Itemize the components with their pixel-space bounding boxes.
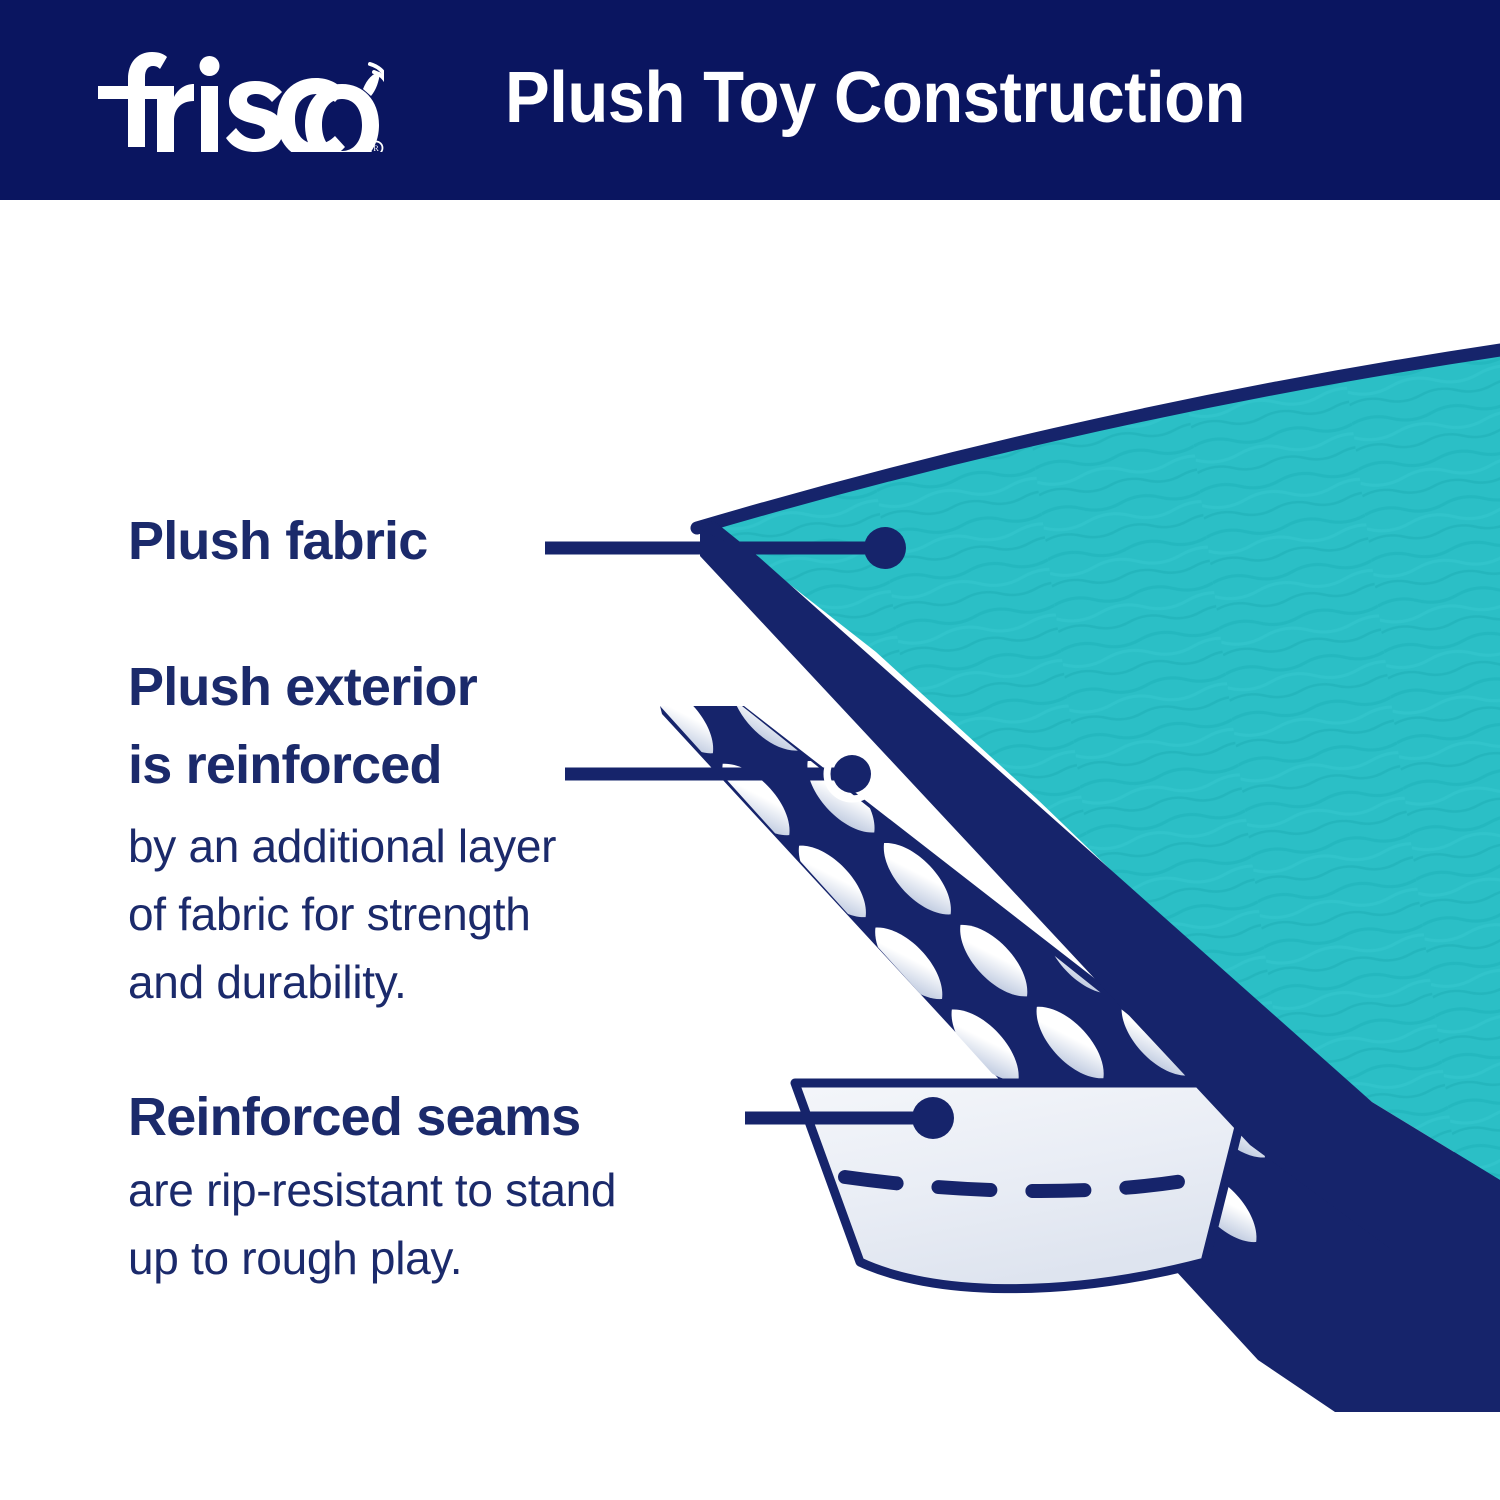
callout-plush-exterior: Plush exterior is reinforced by an addit… xyxy=(128,648,556,1016)
header-banner: R Plush Toy Construction xyxy=(0,0,1500,200)
callout-plush-exterior-body-line-3: and durability. xyxy=(128,948,556,1016)
callout-leaders xyxy=(545,527,954,1139)
callout-plush-fabric-heading: Plush fabric xyxy=(128,502,427,580)
leader-dot-plush-exterior xyxy=(833,755,871,793)
reinforced-seam-flap xyxy=(795,1083,1250,1289)
leader-dot-ring-plush-exterior xyxy=(827,749,877,799)
callout-reinforced-seams-heading: Reinforced seams xyxy=(128,1078,616,1156)
callout-plush-exterior-body-line-2: of fabric for strength xyxy=(128,880,556,948)
svg-text:R: R xyxy=(373,144,379,152)
dashed-stitch-line xyxy=(845,1175,1215,1191)
plush-fabric-panel xyxy=(697,350,1500,1250)
infographic-page: R Plush Toy Construction xyxy=(0,0,1500,1500)
leader-dot-reinforced-seams xyxy=(912,1097,954,1139)
leader-dot-plush-fabric xyxy=(864,527,906,569)
frisco-logo: R xyxy=(84,42,384,152)
callout-reinforced-seams-body-line-1: are rip-resistant to stand xyxy=(128,1156,616,1224)
callout-reinforced-seams-body-line-2: up to rough play. xyxy=(128,1224,616,1292)
callout-reinforced-seams: Reinforced seams are rip-resistant to st… xyxy=(128,1078,616,1292)
callout-plush-exterior-body-line-1: by an additional layer xyxy=(128,812,556,880)
page-title: Plush Toy Construction xyxy=(505,44,1342,154)
callout-plush-fabric: Plush fabric xyxy=(128,502,427,580)
callout-plush-exterior-heading-line-2: is reinforced xyxy=(128,726,556,804)
callout-plush-exterior-heading-line-1: Plush exterior xyxy=(128,648,556,726)
